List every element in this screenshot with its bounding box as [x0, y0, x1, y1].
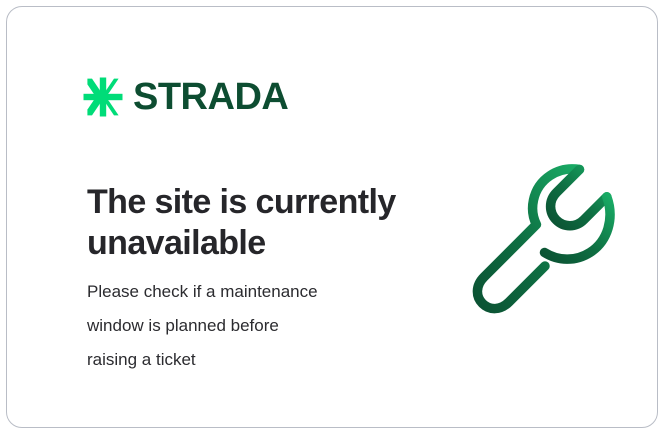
- description-line: Please check if a maintenance: [87, 275, 417, 309]
- brand-name: STRADA: [133, 78, 288, 116]
- page-title: The site is currently unavailable: [87, 182, 447, 265]
- error-page: STRADA The site is currently unavailable…: [0, 0, 666, 436]
- wrench-icon: [459, 155, 627, 319]
- strada-asterisk-icon: [83, 77, 123, 117]
- description-line: window is planned before: [87, 309, 417, 343]
- page-description: Please check if a maintenance window is …: [87, 275, 417, 377]
- message-card: STRADA The site is currently unavailable…: [6, 6, 658, 428]
- description-line: raising a ticket: [87, 343, 417, 377]
- brand-lockup: STRADA: [83, 77, 288, 117]
